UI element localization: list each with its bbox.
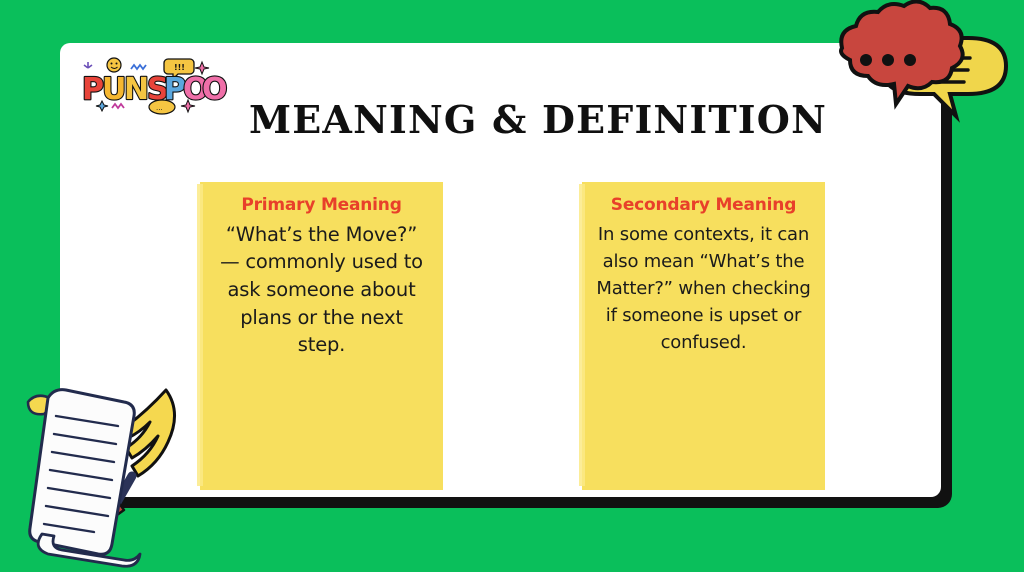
card-heading: Primary Meaning — [214, 196, 429, 215]
svg-text:O: O — [202, 72, 228, 107]
slide-frame: !!! ... — [60, 43, 952, 508]
svg-text:!!!: !!! — [174, 63, 185, 72]
card-body: “What’s the Move?” — commonly used to as… — [214, 221, 429, 359]
svg-text:P: P — [82, 72, 104, 107]
svg-text:N: N — [124, 72, 149, 107]
card-primary-meaning[interactable]: Primary Meaning “What’s the Move?” — com… — [200, 182, 443, 490]
card-secondary-meaning[interactable]: Secondary Meaning In some contexts, it c… — [582, 182, 825, 490]
slide-content-area: !!! ... — [60, 43, 941, 497]
slide-canvas: !!! ... — [0, 0, 1024, 572]
punspoo-logo-icon: !!! ... — [76, 53, 221, 115]
card-heading: Secondary Meaning — [596, 196, 811, 215]
card-body: In some contexts, it can also mean “What… — [596, 221, 811, 356]
punspoo-logo[interactable]: !!! ... — [76, 53, 221, 115]
svg-text:U: U — [102, 72, 126, 107]
page-title: MEANING & DEFINITION — [228, 101, 848, 139]
